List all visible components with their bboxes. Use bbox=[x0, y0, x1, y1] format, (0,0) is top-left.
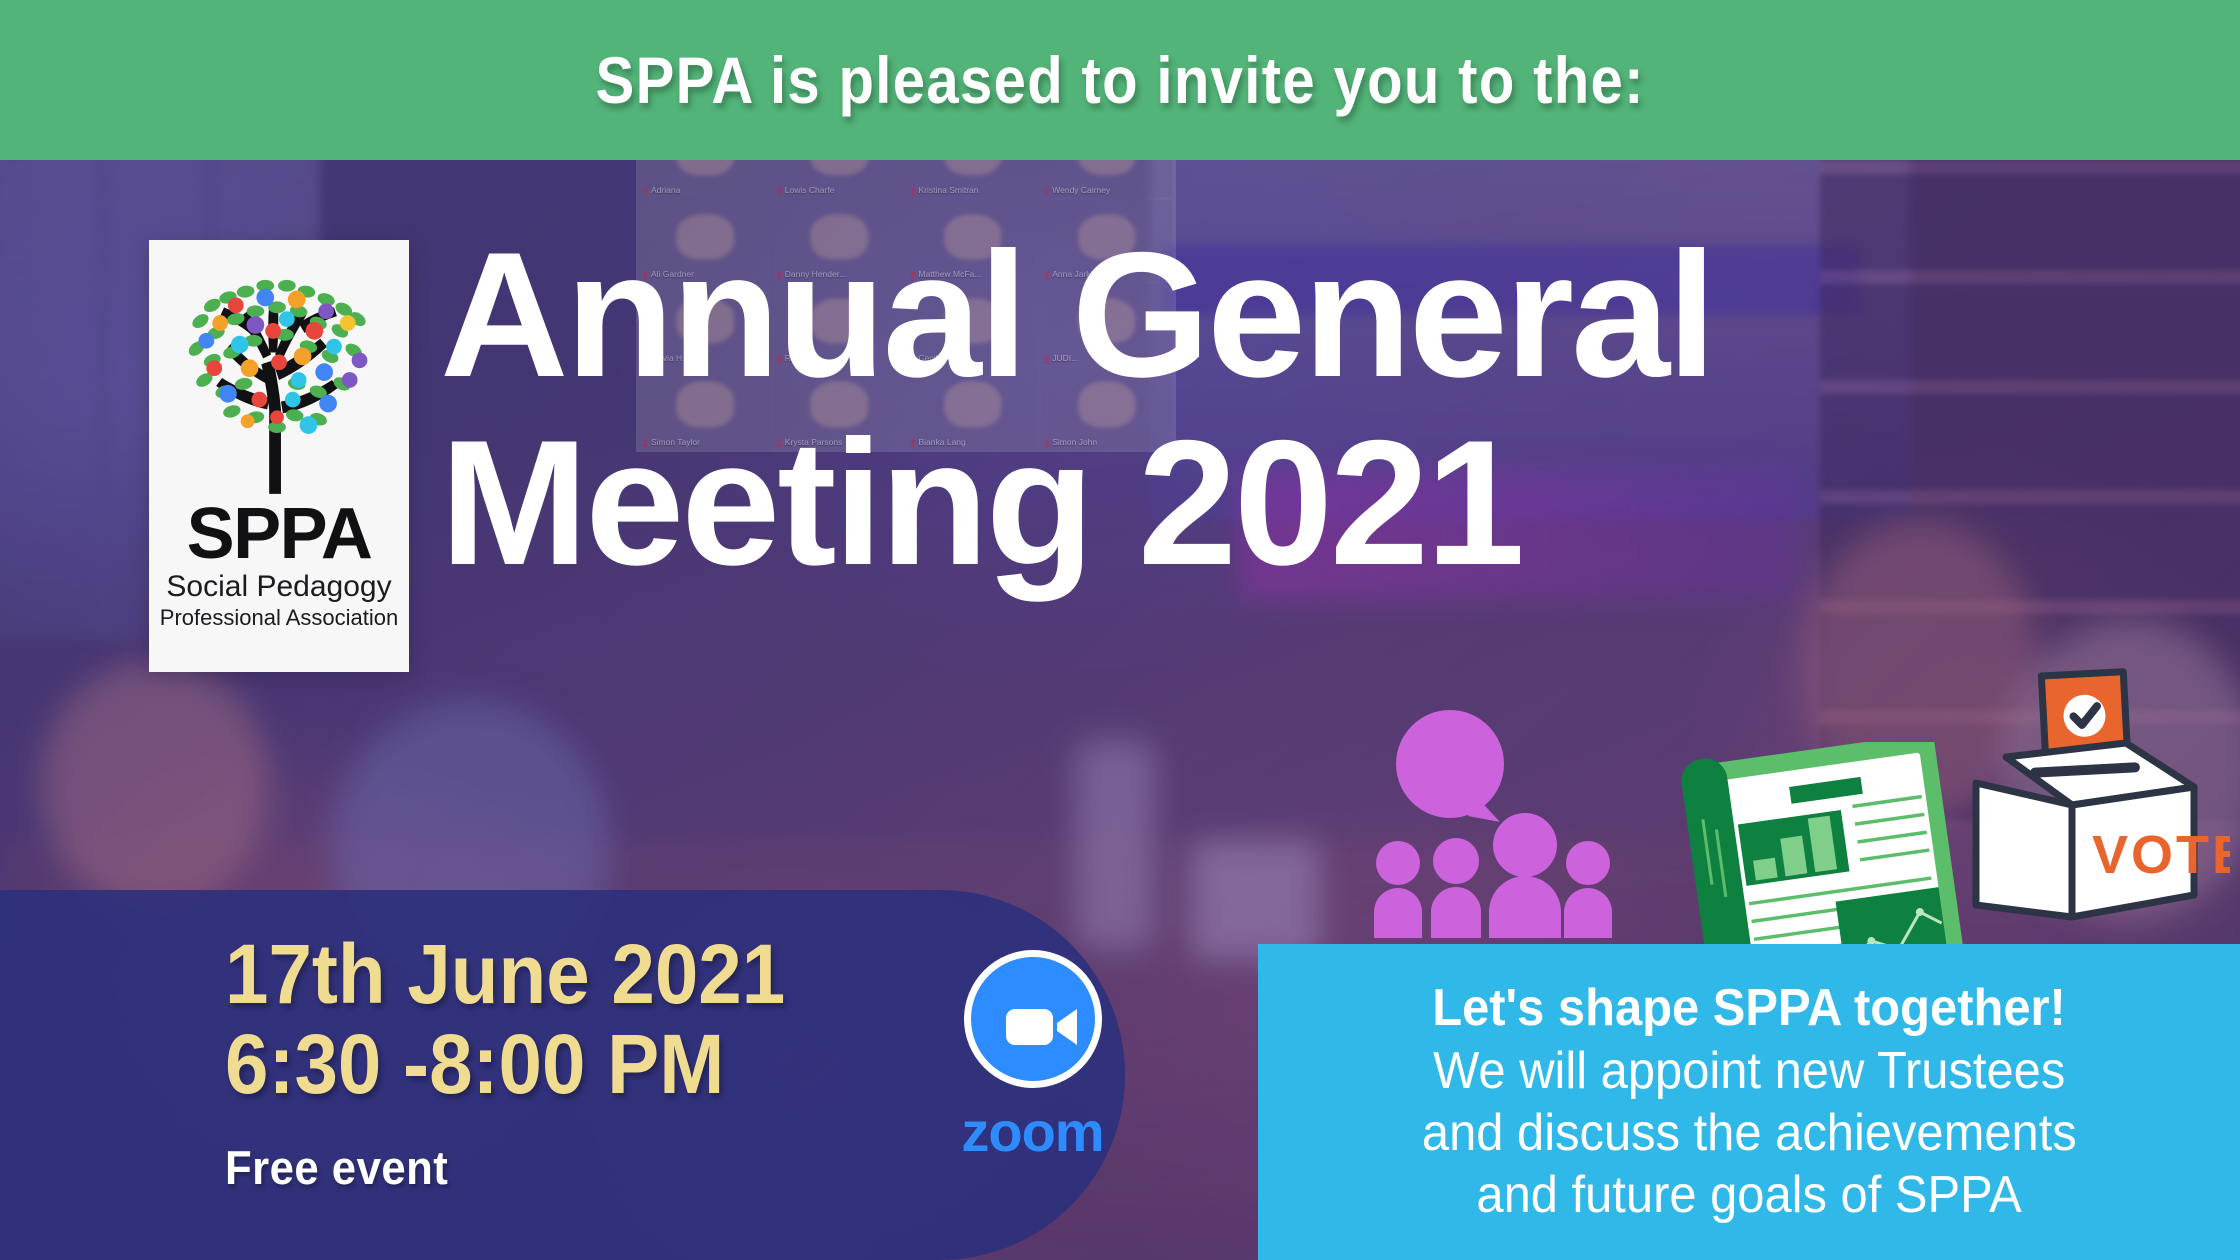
tree-icon bbox=[171, 262, 387, 496]
sppa-logo-card: SPPA Social Pedagogy Professional Associ… bbox=[149, 240, 409, 672]
event-date: 17th June 2021 bbox=[225, 926, 785, 1023]
zoom-badge bbox=[964, 950, 1102, 1088]
message-line-4: and future goals of SPPA bbox=[1476, 1164, 2021, 1226]
poster-canvas: Adriana Lowis Charfe Kristina Smitran We… bbox=[0, 0, 2240, 1260]
participant-name: Kristina Smitran bbox=[910, 186, 979, 195]
participant-name: Adriana bbox=[642, 186, 680, 195]
title-line-2: Meeting 2021 bbox=[440, 416, 1714, 590]
logo-tagline-line1: Social Pedagogy bbox=[166, 570, 391, 604]
page-title: Annual General Meeting 2021 bbox=[440, 228, 1714, 591]
message-line-1: Let's shape SPPA together! bbox=[1432, 977, 2066, 1039]
header-invite-text: SPPA is pleased to invite you to the: bbox=[595, 42, 1644, 118]
logo-wordmark: SPPA bbox=[187, 500, 372, 568]
participant-name: Lowis Charfe bbox=[776, 186, 835, 195]
message-box: Let's shape SPPA together! We will appoi… bbox=[1258, 944, 2240, 1260]
ballot-box-icon: VOTE bbox=[1960, 665, 2230, 925]
participant-name: Wendy Cairney bbox=[1043, 186, 1110, 195]
event-time: 6:30 -8:00 PM bbox=[225, 1016, 724, 1113]
message-line-3: and discuss the achievements bbox=[1422, 1102, 2077, 1164]
header-banner: SPPA is pleased to invite you to the: bbox=[0, 0, 2240, 160]
event-price: Free event bbox=[225, 1140, 448, 1195]
title-line-1: Annual General bbox=[440, 228, 1714, 402]
zoom-logo: zoom bbox=[925, 950, 1140, 1185]
vote-label: VOTE bbox=[2092, 825, 2230, 885]
people-with-speech-bubble-icon bbox=[1372, 700, 1632, 940]
zoom-wordmark: zoom bbox=[925, 1104, 1140, 1160]
video-camera-icon bbox=[971, 957, 1109, 1095]
logo-tagline-line2: Professional Association bbox=[160, 605, 398, 631]
message-line-2: We will appoint new Trustees bbox=[1433, 1040, 2065, 1102]
